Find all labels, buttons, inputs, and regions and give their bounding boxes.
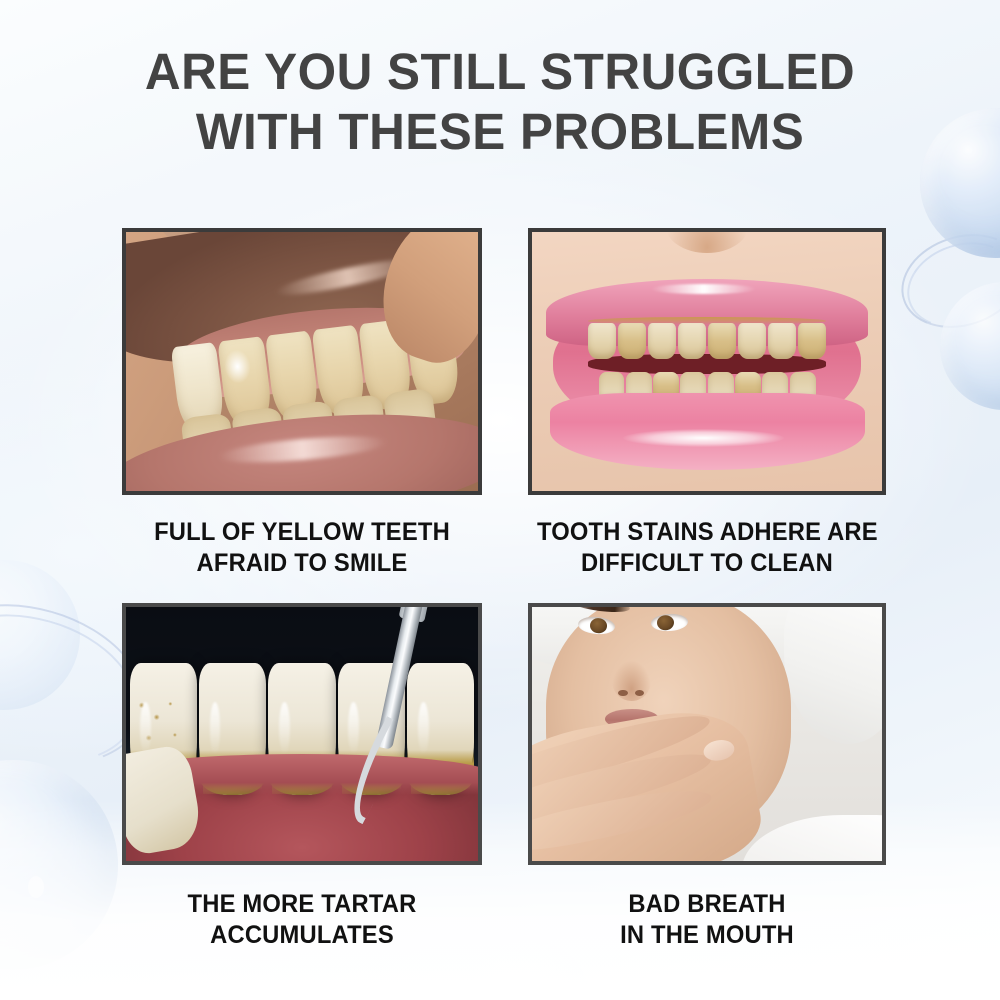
photo-yellow-teeth — [122, 228, 482, 495]
illustration-bad-breath — [532, 607, 882, 861]
illustration-tartar — [126, 607, 478, 861]
caption-bad-breath: BAD BREATH IN THE MOUTH — [537, 889, 877, 951]
caption-line-2: DIFFICULT TO CLEAN — [537, 548, 877, 579]
photo-tartar — [122, 603, 482, 865]
page-title: ARE YOU STILL STRUGGLED WITH THESE PROBL… — [15, 42, 985, 162]
photo-bad-breath — [528, 603, 886, 865]
problem-card-tooth-stains: TOOTH STAINS ADHERE ARE DIFFICULT TO CLE… — [528, 228, 886, 579]
caption-line-2: AFRAID TO SMILE — [131, 548, 473, 579]
problem-row-1: FULL OF YELLOW TEETH AFRAID TO SMILE — [122, 228, 886, 579]
page-title-line-2: WITH THESE PROBLEMS — [15, 102, 985, 162]
caption-tartar: THE MORE TARTAR ACCUMULATES — [131, 889, 473, 951]
poster: ARE YOU STILL STRUGGLED WITH THESE PROBL… — [0, 0, 1000, 1000]
swirl-decoration-right-inner — [896, 229, 1000, 342]
problem-row-2: THE MORE TARTAR ACCUMULATES — [122, 603, 886, 951]
illustration-yellow-teeth — [126, 232, 478, 491]
caption-line-1: THE MORE TARTAR — [131, 889, 473, 920]
problem-card-yellow-teeth: FULL OF YELLOW TEETH AFRAID TO SMILE — [122, 228, 482, 579]
photo-tooth-stains — [528, 228, 886, 495]
swirl-decoration-right — [889, 219, 1000, 343]
caption-line-1: FULL OF YELLOW TEETH — [131, 517, 473, 548]
page-title-line-1: ARE YOU STILL STRUGGLED — [15, 42, 985, 102]
caption-line-1: BAD BREATH — [537, 889, 877, 920]
bubble-decoration-left-lower — [0, 760, 118, 970]
bubble-decoration-right-lower — [940, 282, 1000, 410]
caption-line-2: ACCUMULATES — [131, 920, 473, 951]
bubble-decoration-left-upper — [0, 560, 80, 710]
problem-grid: FULL OF YELLOW TEETH AFRAID TO SMILE — [122, 228, 886, 951]
caption-line-1: TOOTH STAINS ADHERE ARE — [537, 517, 877, 548]
problem-card-bad-breath: BAD BREATH IN THE MOUTH — [528, 603, 886, 951]
caption-line-2: IN THE MOUTH — [537, 920, 877, 951]
caption-yellow-teeth: FULL OF YELLOW TEETH AFRAID TO SMILE — [131, 517, 473, 579]
illustration-tooth-stains — [532, 232, 882, 491]
caption-tooth-stains: TOOTH STAINS ADHERE ARE DIFFICULT TO CLE… — [537, 517, 877, 579]
problem-card-tartar: THE MORE TARTAR ACCUMULATES — [122, 603, 482, 951]
